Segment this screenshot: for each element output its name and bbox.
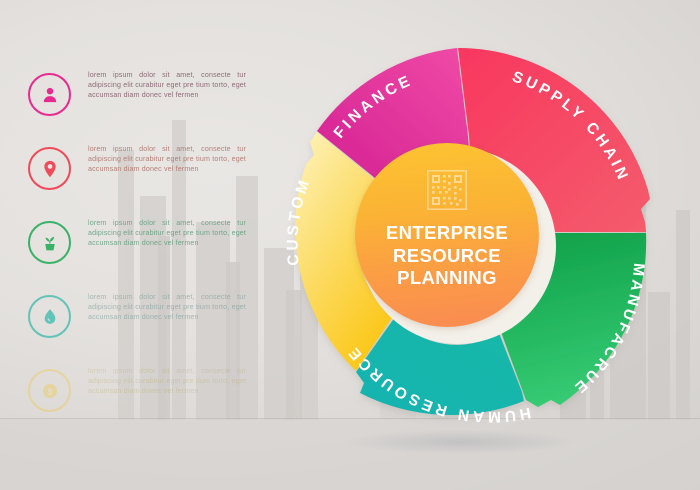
- feature-list: lorem ipsum dolor sit amet, consecte tur…: [0, 0, 260, 490]
- list-item[interactable]: lorem ipsum dolor sit amet, consecte tur…: [28, 142, 258, 206]
- svg-text:$: $: [47, 386, 52, 396]
- list-item-text: lorem ipsum dolor sit amet, consecte tur…: [88, 219, 246, 249]
- list-item-text: lorem ipsum dolor sit amet, consecte tur…: [88, 293, 246, 323]
- page-title: ENTERPRISE RESOURCE PLANNING: [386, 222, 508, 290]
- center-hub[interactable]: ENTERPRISE RESOURCE PLANNING: [355, 143, 539, 327]
- qr-code-icon: [427, 170, 467, 210]
- hub-title-line-1: ENTERPRISE: [386, 222, 508, 245]
- user-icon: [28, 73, 71, 116]
- list-item-text: lorem ipsum dolor sit amet, consecte tur…: [88, 367, 246, 397]
- list-item[interactable]: $ lorem ipsum dolor sit amet, consecte t…: [28, 364, 258, 428]
- list-item-text: lorem ipsum dolor sit amet, consecte tur…: [88, 71, 246, 101]
- map-pin-icon: [28, 147, 71, 190]
- hub-title-line-2: RESOURCE: [386, 245, 508, 268]
- hub-title-line-3: PLANNING: [386, 267, 508, 290]
- list-item[interactable]: lorem ipsum dolor sit amet, consecte tur…: [28, 68, 258, 132]
- list-item-text: lorem ipsum dolor sit amet, consecte tur…: [88, 145, 246, 175]
- list-item[interactable]: lorem ipsum dolor sit amet, consecte tur…: [28, 216, 258, 280]
- infographic-canvas: lorem ipsum dolor sit amet, consecte tur…: [0, 0, 700, 490]
- list-item[interactable]: lorem ipsum dolor sit amet, consecte tur…: [28, 290, 258, 354]
- water-drop-icon: [28, 295, 71, 338]
- coin-icon: $: [28, 369, 71, 412]
- plant-pot-icon: [28, 221, 71, 264]
